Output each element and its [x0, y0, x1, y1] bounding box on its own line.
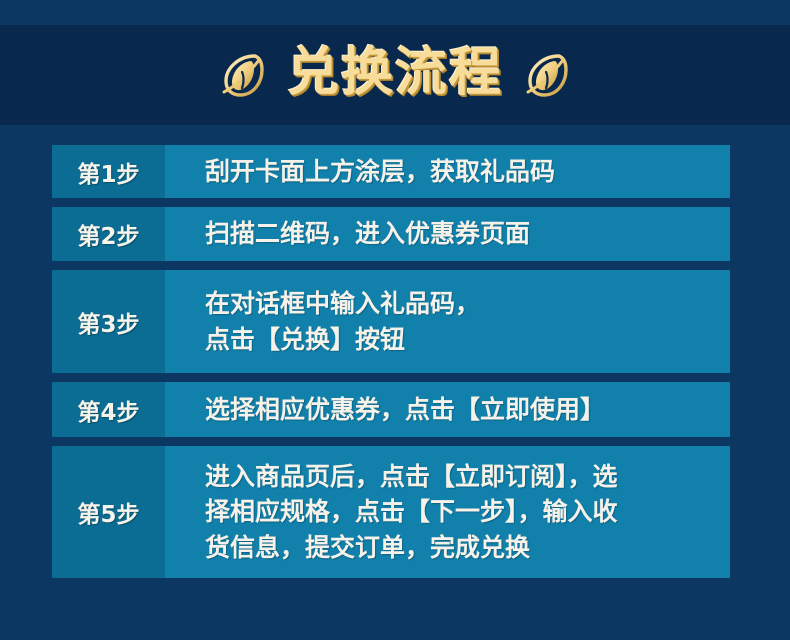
step-description: 进入商品页后，点击【立即订阅】，选 择相应规格，点击【下一步】，输入收 货信息，…: [165, 446, 730, 578]
step-row: 第3步 在对话框中输入礼品码， 点击【兑换】按钮: [52, 270, 730, 373]
page-header: 兑换流程: [0, 25, 790, 125]
step-row: 第2步 扫描二维码，进入优惠券页面: [52, 207, 730, 261]
step-text-line: 点击【兑换】按钮: [205, 322, 716, 358]
step-row: 第5步 进入商品页后，点击【立即订阅】，选 择相应规格，点击【下一步】，输入收 …: [52, 446, 730, 578]
step-text-line: 选择相应优惠券，点击【立即使用】: [205, 392, 716, 428]
step-label: 第1步: [52, 145, 165, 198]
step-label: 第4步: [52, 382, 165, 437]
steps-list: 第1步 刮开卡面上方涂层，获取礼品码 第2步 扫描二维码，进入优惠券页面 第3步…: [52, 145, 730, 578]
step-text-line: 扫描二维码，进入优惠券页面: [205, 216, 716, 252]
step-text-line: 刮开卡面上方涂层，获取礼品码: [205, 154, 716, 190]
step-description: 刮开卡面上方涂层，获取礼品码: [165, 145, 730, 198]
step-label: 第5步: [52, 446, 165, 578]
step-label: 第2步: [52, 207, 165, 261]
page-title: 兑换流程: [287, 47, 503, 103]
step-description: 在对话框中输入礼品码， 点击【兑换】按钮: [165, 270, 730, 373]
step-text-line: 货信息，提交订单，完成兑换: [205, 530, 716, 566]
step-text-line: 进入商品页后，点击【立即订阅】，选: [205, 459, 716, 495]
step-description: 扫描二维码，进入优惠券页面: [165, 207, 730, 261]
step-text-line: 择相应规格，点击【下一步】，输入收: [205, 494, 716, 530]
gold-leaf-ornament-left: [221, 52, 265, 98]
step-text-line: 在对话框中输入礼品码，: [205, 286, 716, 322]
step-row: 第1步 刮开卡面上方涂层，获取礼品码: [52, 145, 730, 198]
step-label: 第3步: [52, 270, 165, 373]
redemption-flow-page: 兑换流程 第1步 刮开卡面上方涂层，获取礼品码 第2步: [0, 0, 790, 640]
step-description: 选择相应优惠券，点击【立即使用】: [165, 382, 730, 437]
gold-leaf-ornament-right: [525, 52, 569, 98]
step-row: 第4步 选择相应优惠券，点击【立即使用】: [52, 382, 730, 437]
